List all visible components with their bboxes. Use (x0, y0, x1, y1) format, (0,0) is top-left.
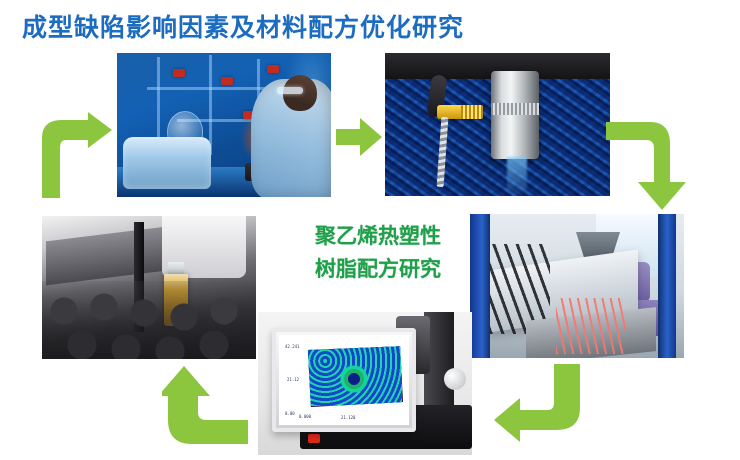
slide-canvas: 成型缺陷影响因素及材料配方优化研究 (0, 0, 740, 460)
stand-cross-1 (147, 87, 267, 90)
stand-rod-2 (209, 55, 212, 155)
drill-bit (437, 117, 449, 187)
arrow-right-down-icon (606, 114, 694, 210)
page-title: 成型缺陷影响因素及材料配方优化研究 (22, 8, 464, 44)
cooling-bath (123, 137, 211, 189)
clamp-3 (267, 65, 279, 73)
safety-goggles (277, 87, 303, 94)
nozzle-knurl (461, 105, 483, 119)
surface-topography-heatmap (305, 345, 403, 407)
scope-photo-content: 42.241 21.12 0.00 0.000 21.120 (258, 312, 472, 455)
blue-frame-right (658, 214, 676, 358)
arrow-down-left-icon (494, 364, 580, 442)
arrow-right-icon (336, 118, 382, 156)
arrow-up-right-icon (36, 112, 112, 198)
clamp-2 (221, 77, 233, 85)
caption-line-2: 树脂配方研究 (288, 253, 468, 286)
center-caption: 聚乙烯热塑性 树脂配方研究 (288, 220, 468, 285)
machine-block (46, 227, 166, 286)
x-axis-max-label: 21.120 (341, 415, 355, 420)
cnc-photo-content (385, 53, 610, 196)
lab-photo-content (117, 53, 331, 197)
measurement-monitor: 42.241 21.12 0.00 0.000 21.120 (272, 328, 416, 432)
vial-capping-photo (42, 216, 256, 359)
power-button (308, 434, 320, 443)
blue-frame-left (470, 214, 490, 358)
arrow-left-up-icon (162, 366, 248, 444)
polymer-strands (556, 298, 626, 354)
chemistry-laboratory-photo (117, 53, 331, 197)
cnc-machining-photo (385, 53, 610, 196)
illuminator (444, 368, 466, 390)
y-axis-min-label: 0.00 (285, 411, 295, 416)
clamp-1 (173, 69, 185, 77)
profilometer-photo: 42.241 21.12 0.00 0.000 21.120 (258, 312, 472, 455)
spindle-knurl (491, 103, 539, 115)
caption-line-1: 聚乙烯热塑性 (288, 220, 468, 253)
x-axis-min-label: 0.000 (299, 414, 311, 419)
monitor-screen: 42.241 21.12 0.00 0.000 21.120 (279, 335, 409, 425)
y-axis-max-label: 42.241 (285, 344, 299, 349)
vials-photo-content (42, 216, 256, 359)
vial-cap-array (42, 281, 256, 359)
extrusion-line-photo (470, 214, 684, 358)
extruder-photo-content (470, 214, 684, 358)
coolant-stream (507, 157, 527, 196)
y-axis-mid-label: 21.12 (287, 377, 299, 382)
spindle-tool (491, 71, 539, 159)
